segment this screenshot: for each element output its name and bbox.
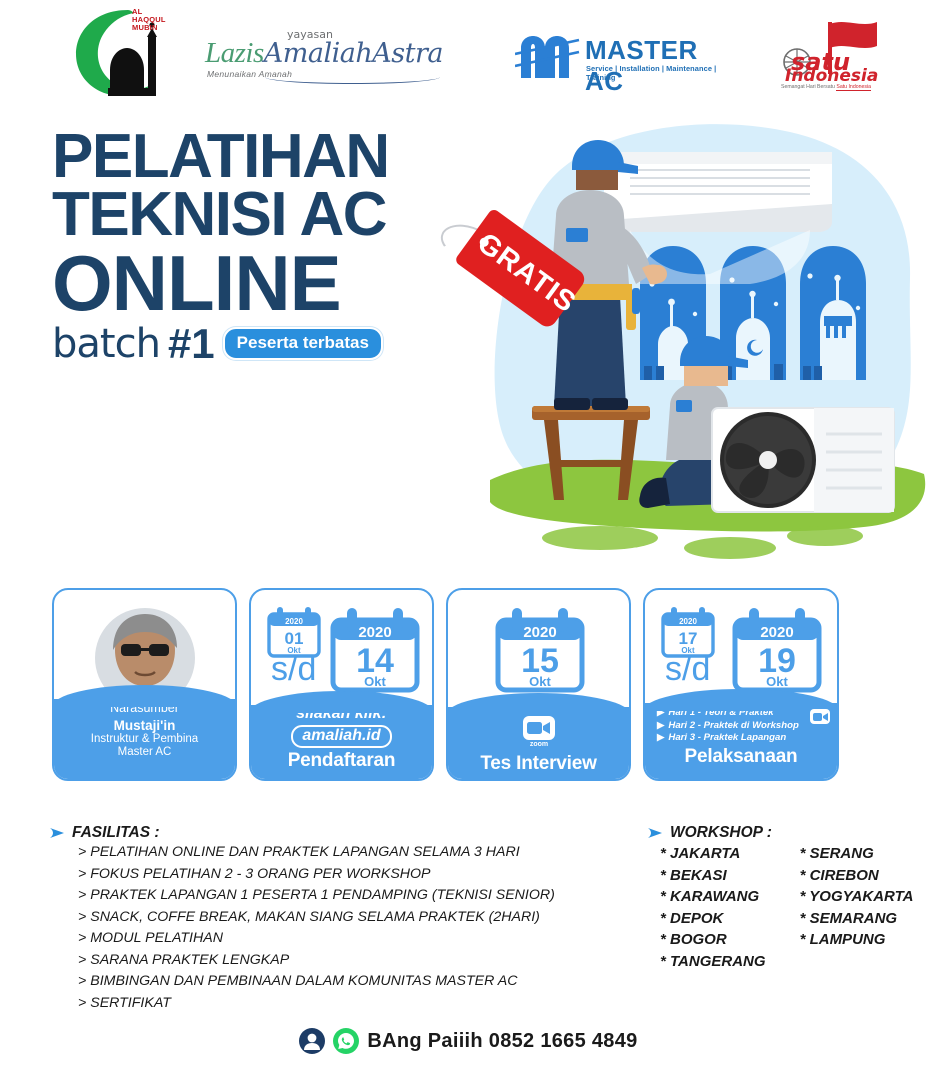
- peserta-terbatas-badge: Peserta terbatas: [223, 327, 383, 360]
- zoom-icon: [809, 707, 831, 732]
- indoor-ac-unit: [604, 152, 832, 232]
- batch-number: #1: [168, 324, 215, 364]
- fasilitas-item: > SARANA PRAKTEK LENGKAP: [78, 950, 640, 972]
- outdoor-ac-unit: [712, 408, 894, 512]
- pendaftaran-link[interactable]: amaliah.id: [291, 725, 391, 748]
- fasilitas-item: > MODUL PELATIHAN: [78, 928, 640, 950]
- fasilitas-section: FASILITAS : > PELATIHAN ONLINE DAN PRAKT…: [50, 824, 640, 1014]
- workshop-city: * SERANG: [800, 843, 914, 865]
- arrow-icon: [648, 827, 663, 839]
- tes-interview-title: Tes Interview: [448, 753, 629, 775]
- satu-tagline-text: Semangat Hari Bersatu: [781, 84, 835, 90]
- narasumber-footer: Narasumber Mustaji'in Instruktur & Pembi…: [54, 699, 235, 779]
- logo-master-ac: MASTER AC Service | Installation | Maint…: [515, 34, 730, 82]
- svg-text:Okt: Okt: [766, 674, 788, 689]
- workshop-section: WORKSHOP : * JAKARTA * BEKASI * KARAWANG…: [648, 824, 918, 972]
- pelaksanaan-card: 2020 17 Okt s/d 2020 19 Okt: [643, 588, 839, 781]
- calendar-big-19-okt: 2020 19 Okt: [731, 604, 823, 696]
- logo-lazis-amaliah-astra: yayasan LazisAmaliahAstra Menunaikan Ama…: [205, 28, 445, 84]
- pendaftaran-card: 2020 01 Okt s/d 2020 14 Okt: [249, 588, 434, 781]
- fasilitas-item: > FOKUS PELATIHAN 2 - 3 ORANG PER WORKSH…: [78, 864, 640, 886]
- satu-indonesia-name: Indonesia: [785, 66, 878, 86]
- workshop-heading-row: WORKSHOP :: [648, 824, 918, 842]
- whatsapp-icon[interactable]: [333, 1028, 359, 1054]
- pelaksanaan-separator: s/d: [665, 650, 710, 689]
- workshop-city: * SEMARANG: [800, 908, 914, 930]
- tes-interview-footer: zoom Tes Interview: [448, 707, 629, 779]
- svg-text:2020: 2020: [523, 624, 556, 641]
- logo-al-haqqul-mubin: AL HAQQUL MUBIN: [70, 4, 180, 100]
- workshop-city: * TANGERANG: [660, 951, 766, 973]
- contact-text: BAng Paiiih 0852 1665 4849: [367, 1030, 637, 1053]
- pelaksanaan-footer: ▶Hari 1 - Teori & Praktek ▶Hari 2 - Prak…: [645, 703, 837, 779]
- poster-root: AL HAQQUL MUBIN yayasan LazisAmaliahAstr…: [0, 0, 937, 1080]
- svg-text:Okt: Okt: [529, 674, 551, 689]
- workshop-column-2: * SERANG * CIREBON * YOGYAKARTA * SEMARA…: [788, 843, 914, 972]
- workshop-city: * BEKASI: [660, 865, 766, 887]
- calendar-big-14-okt: 2020 14 Okt: [329, 604, 421, 696]
- fasilitas-heading: FASILITAS :: [72, 824, 160, 842]
- logo-bar: AL HAQQUL MUBIN yayasan LazisAmaliahAstr…: [0, 0, 937, 108]
- lazis-astra: Astra: [372, 38, 443, 69]
- fasilitas-item: > SNACK, COFFE BREAK, MAKAN SIANG SELAMA…: [78, 907, 640, 929]
- master-ac-subtitle: Service | Installation | Maintenance | T…: [586, 64, 730, 82]
- svg-text:2020: 2020: [358, 624, 391, 641]
- svg-text:2020: 2020: [679, 617, 697, 626]
- batch-label: batch: [52, 324, 160, 364]
- calendar-big-15-okt: 2020 15 Okt: [494, 604, 586, 696]
- tes-interview-card: 2020 15 Okt zoom Tes Interview: [446, 588, 631, 781]
- gratis-tag: GRATIS: [440, 222, 600, 342]
- fasilitas-item: > BIMBINGAN DAN PEMBINAAN DALAM KOMUNITA…: [78, 971, 640, 993]
- workshop-city: * CIREBON: [800, 865, 914, 887]
- svg-text:zoom: zoom: [529, 741, 547, 747]
- pelaksanaan-title: Pelaksanaan: [645, 746, 837, 768]
- person-icon: [299, 1028, 325, 1054]
- timeline-cards: Narasumber Mustaji'in Instruktur & Pembi…: [52, 588, 892, 784]
- workshop-city: * BOGOR: [660, 929, 766, 951]
- alh-line3: MUBIN: [132, 24, 166, 32]
- narasumber-role-1: Instruktur & Pembina: [54, 733, 235, 746]
- narasumber-card: Narasumber Mustaji'in Instruktur & Pembi…: [52, 588, 237, 781]
- pendaftaran-footer: silakan klik: amaliah.id Pendaftaran: [251, 705, 432, 779]
- workshop-city: * YOGYAKARTA: [800, 886, 914, 908]
- fasilitas-heading-row: FASILITAS :: [50, 824, 640, 842]
- svg-text:Okt: Okt: [364, 674, 386, 689]
- contact-footer: BAng Paiiih 0852 1665 4849: [0, 1028, 937, 1054]
- workshop-heading: WORKSHOP :: [670, 824, 772, 842]
- logo-satu-indonesia: satu Indonesia Semangat Hari Bersatu Sat…: [775, 18, 895, 92]
- fasilitas-item: > SERTIFIKAT: [78, 993, 640, 1015]
- master-ac-mark-icon: [515, 34, 581, 80]
- svg-text:2020: 2020: [285, 617, 303, 626]
- narasumber-role-2: Master AC: [54, 746, 235, 759]
- arrow-icon: [50, 827, 65, 839]
- workshop-city: * KARAWANG: [660, 886, 766, 908]
- workshop-city: * DEPOK: [660, 908, 766, 930]
- al-haqqul-text: AL HAQQUL MUBIN: [132, 8, 166, 33]
- schedule-item-3: ▶Hari 3 - Praktek Lapangan: [645, 732, 837, 745]
- gratis-label: GRATIS: [460, 218, 582, 320]
- svg-text:2020: 2020: [760, 624, 793, 641]
- workshop-city: * LAMPUNG: [800, 929, 914, 951]
- satu-tagline: Semangat Hari Bersatu Satu Indonesia: [781, 84, 871, 90]
- lazis-name: Lazis: [205, 37, 264, 69]
- fasilitas-item: > PELATIHAN ONLINE DAN PRAKTEK LAPANGAN …: [78, 842, 640, 864]
- headline-line-1: PELATIHAN: [52, 128, 522, 186]
- lazis-amaliah: Amaliah: [264, 38, 372, 69]
- fasilitas-item: > PRAKTEK LAPANGAN 1 PESERTA 1 PENDAMPIN…: [78, 885, 640, 907]
- workshop-column-1: * JAKARTA * BEKASI * KARAWANG * DEPOK * …: [648, 843, 766, 972]
- pendaftaran-separator: s/d: [271, 650, 316, 689]
- satu-tagline-accent: Satu Indonesia: [836, 84, 871, 91]
- narasumber-name: Mustaji'in: [54, 718, 235, 733]
- pendaftaran-title: Pendaftaran: [251, 750, 432, 772]
- workshop-city: * JAKARTA: [660, 843, 766, 865]
- lazis-tagline: Menunaikan Amanah: [207, 69, 292, 79]
